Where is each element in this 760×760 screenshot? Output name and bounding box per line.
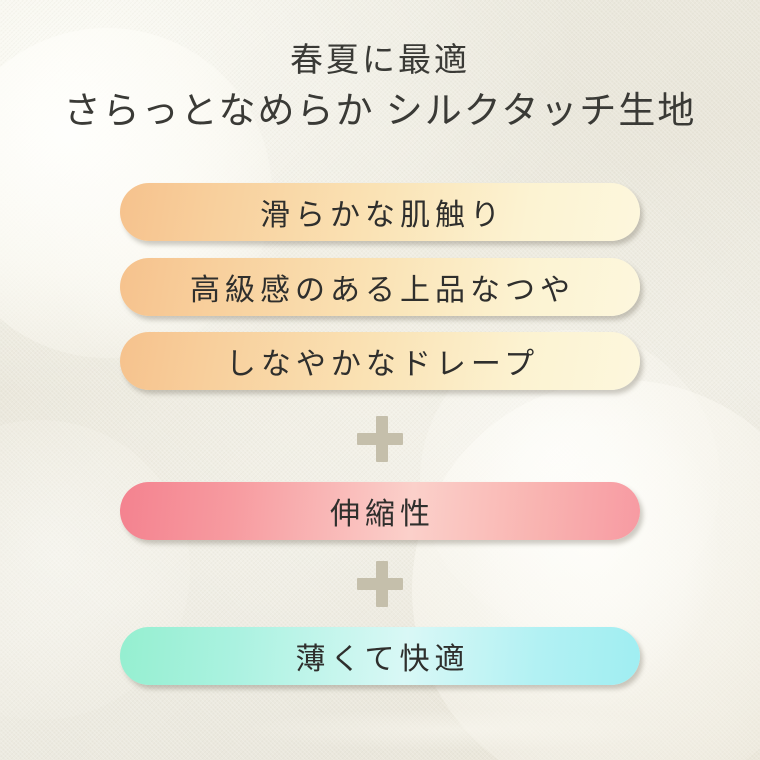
plus-icon-1 <box>357 416 403 462</box>
plus-icon-2 <box>357 561 403 607</box>
feature-pill-thin-comfortable: 薄くて快適 <box>120 627 640 685</box>
feature-pill-stretchability: 伸縮性 <box>120 482 640 540</box>
content-layer: 春夏に最適 さらっとなめらか シルクタッチ生地 滑らかな肌触り 高級感のある上品… <box>0 0 760 760</box>
headline-line-1: 春夏に最適 <box>0 40 760 82</box>
feature-pill-luxury-sheen: 高級感のある上品なつや <box>120 258 640 316</box>
feature-pill-smooth-touch: 滑らかな肌触り <box>120 183 640 241</box>
headline-block: 春夏に最適 さらっとなめらか シルクタッチ生地 <box>0 40 760 136</box>
promo-banner: 春夏に最適 さらっとなめらか シルクタッチ生地 滑らかな肌触り 高級感のある上品… <box>0 0 760 760</box>
feature-pill-supple-drape: しなやかなドレープ <box>120 332 640 390</box>
headline-line-2: さらっとなめらか シルクタッチ生地 <box>0 88 760 136</box>
